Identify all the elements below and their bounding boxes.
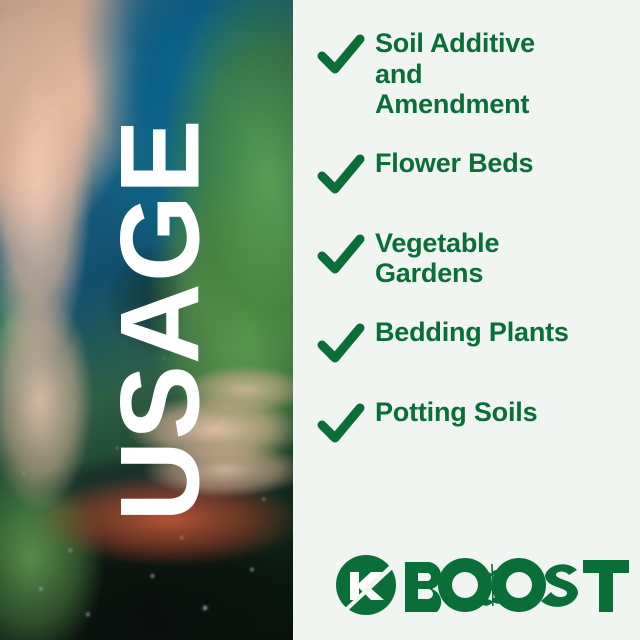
- usage-list: Soil Additive and Amendment Flower Beds …: [315, 26, 635, 475]
- list-item-label: Flower Beds: [375, 146, 533, 179]
- list-item: Potting Soils: [315, 395, 635, 449]
- checkmark-icon: [315, 317, 367, 369]
- list-item-label: Vegetable Gardens: [375, 226, 499, 289]
- list-item: Bedding Plants: [315, 315, 635, 369]
- k-circle-leaf-logo-icon: [335, 554, 397, 616]
- checkmark-icon: [315, 397, 367, 449]
- usage-poster: USAGE Soil Additive and Amendment Flower…: [0, 0, 640, 640]
- content-panel: Soil Additive and Amendment Flower Beds …: [293, 0, 640, 640]
- checkmark-icon: [315, 148, 367, 200]
- checkmark-icon: [315, 28, 367, 80]
- brand-logo: [335, 554, 631, 616]
- list-item-label: Potting Soils: [375, 395, 537, 428]
- list-item: Soil Additive and Amendment: [315, 26, 635, 120]
- list-item: Flower Beds: [315, 146, 635, 200]
- brand-wordmark: [401, 558, 631, 612]
- checkmark-icon: [315, 228, 367, 280]
- photo-vignette-layer: [0, 0, 293, 640]
- list-item: Vegetable Gardens: [315, 226, 635, 289]
- list-item-label: Bedding Plants: [375, 315, 569, 348]
- list-item-label: Soil Additive and Amendment: [375, 26, 535, 120]
- photo-panel: USAGE: [0, 0, 293, 640]
